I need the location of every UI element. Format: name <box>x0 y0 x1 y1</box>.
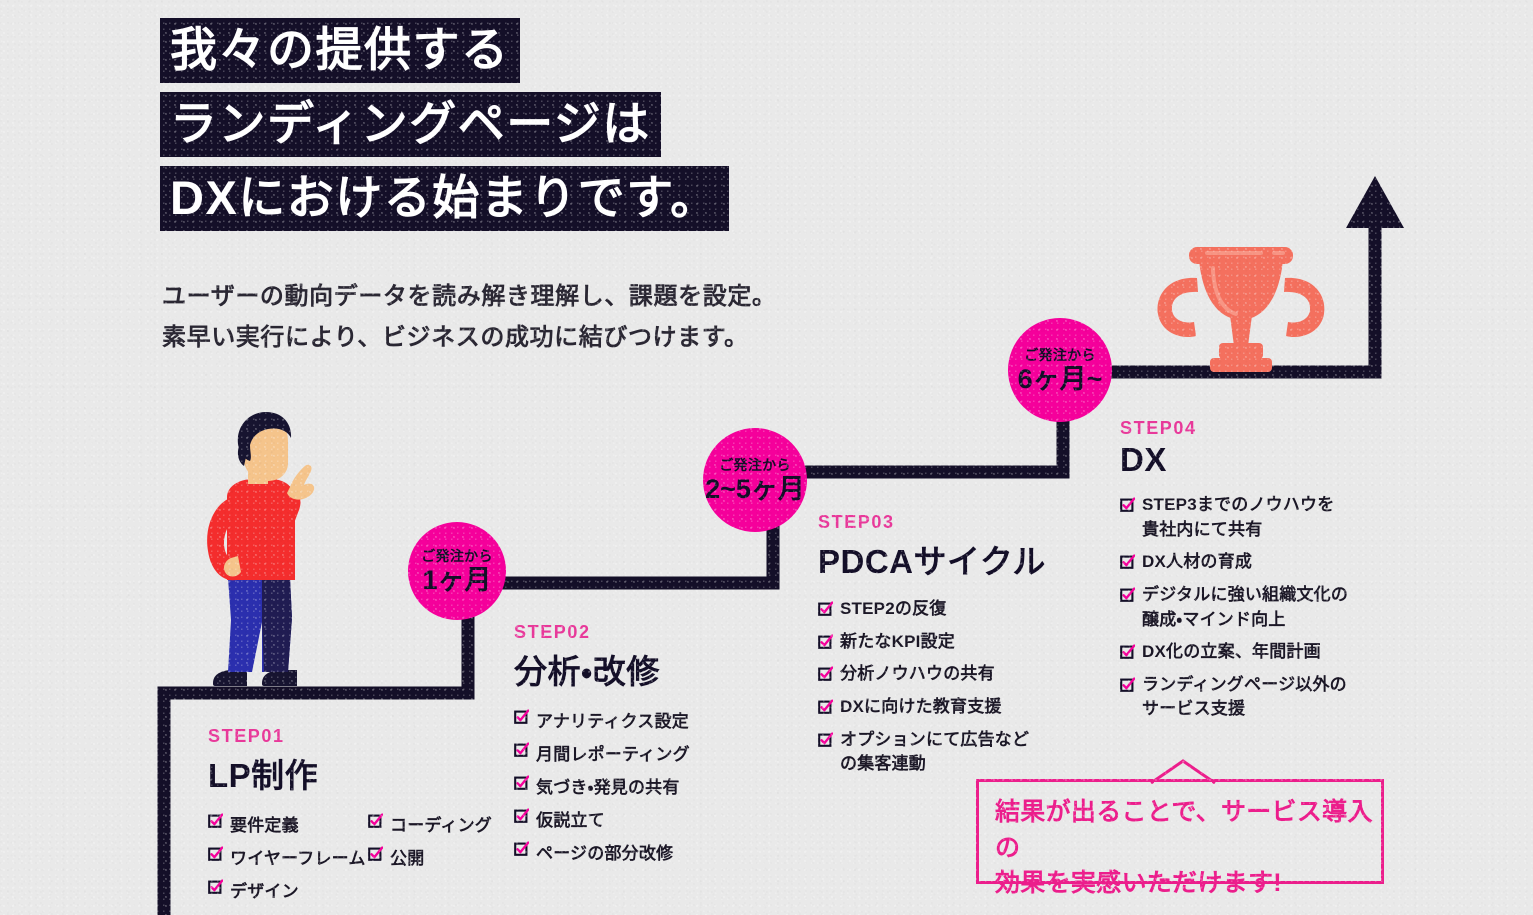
step-3-column-a: STEP2の反復 新たなKPI設定 分析ノウハウの共有 <box>818 597 1029 785</box>
checkbox-checked-icon <box>1120 552 1135 577</box>
step-number-2: STEP02 <box>514 622 690 643</box>
step-4-column-a: STEP3までのノウハウを 貴社内にて共有 DX人材の育成 デジタルに強い組 <box>1120 493 1348 730</box>
checkbox-checked-icon <box>368 813 383 833</box>
checkbox-checked-icon <box>1120 585 1135 610</box>
headline-text-2: ランディングページは <box>160 92 661 157</box>
checkbox-checked-icon <box>368 846 383 866</box>
list-item-label: アナリティクス設定 <box>536 712 689 731</box>
step-title-1: LP制作 <box>208 749 492 797</box>
list-item-label: 気づき・発見の共有 <box>536 778 680 797</box>
step-block-4: STEP04 DX STEP3までのノウハウを 貴社内にて共有 <box>1120 418 1348 730</box>
list-item-label-line2: 醸成・マインド向上 <box>1142 608 1348 633</box>
list-item: DX人材の育成 <box>1120 550 1348 575</box>
step-block-1: STEP01 LP制作 要件定義 ワイヤーフレーム <box>208 726 492 910</box>
headline-text-3: DXにおける始まりです。 <box>160 166 729 231</box>
milestone-prefix-3: ご発注から <box>1024 348 1096 362</box>
step-1-column-a: 要件定義 ワイヤーフレーム デザイン <box>208 811 368 910</box>
list-item-label: コーディング <box>390 816 492 835</box>
milestone-prefix-1: ご発注から <box>421 549 493 563</box>
checkbox-checked-icon <box>514 775 529 795</box>
checkbox-checked-icon <box>818 664 833 689</box>
callout-text: 結果が出ることで、サービス導入の 効果を実感いただけます! <box>995 795 1390 902</box>
list-item-label: DXに向けた教育支援 <box>840 697 1002 716</box>
list-item-label: 分析ノウハウの共有 <box>840 664 995 683</box>
list-item-label: 月間レポーティング <box>536 745 690 764</box>
checkbox-checked-icon <box>1120 675 1135 700</box>
list-item: 新たなKPI設定 <box>818 630 1029 655</box>
list-item-label: ランディングページ以外の <box>1142 675 1347 694</box>
headline-line-1: 我々の提供する <box>160 18 520 92</box>
list-item-label: デザイン <box>230 882 299 901</box>
list-item: 公開 <box>368 844 492 869</box>
checkbox-checked-icon <box>818 730 833 755</box>
list-item-label-line2: サービス支援 <box>1142 697 1347 722</box>
checkbox-checked-icon <box>514 709 529 729</box>
list-item-label-line2: の集客連動 <box>840 752 1029 777</box>
step-title-3: PDCAサイクル <box>818 535 1046 583</box>
step-block-2: STEP02 分析・改修 アナリティクス設定 月間レポーティング <box>514 622 690 872</box>
step-number-4: STEP04 <box>1120 418 1348 439</box>
callout-line-1: 結果が出ることで、サービス導入の <box>995 795 1390 866</box>
milestone-value-3: 6ヶ月~ <box>1018 366 1103 393</box>
list-item: ページの部分改修 <box>514 839 690 864</box>
list-item: ランディングページ以外の サービス支援 <box>1120 673 1348 722</box>
step-number-1: STEP01 <box>208 726 492 747</box>
checkbox-checked-icon <box>1120 642 1135 667</box>
lede-line-1: ユーザーの動向データを読み解き理解し、課題を設定。 <box>162 276 777 317</box>
lede-line-2: 素早い実行により、ビジネスの成功に結びつけます。 <box>162 317 777 358</box>
lede-paragraph: ユーザーの動向データを読み解き理解し、課題を設定。 素早い実行により、ビジネスの… <box>162 276 777 359</box>
checkbox-checked-icon <box>514 808 529 828</box>
list-item-label: DX人材の育成 <box>1142 552 1252 571</box>
checkbox-checked-icon <box>818 599 833 624</box>
list-item: オプションにて広告など の集客連動 <box>818 728 1029 777</box>
headline-line-2: ランディングページは <box>160 92 661 166</box>
list-item-label: STEP2の反復 <box>840 599 946 618</box>
list-item-label: デジタルに強い組織文化の <box>1142 585 1348 604</box>
list-item-label: DX化の立案、年間計画 <box>1142 642 1321 661</box>
person-pointing-up-icon <box>207 412 314 686</box>
headline-line-3: DXにおける始まりです。 <box>160 166 729 240</box>
list-item: 要件定義 <box>208 811 368 836</box>
checkbox-checked-icon <box>208 879 223 899</box>
step-title-4: DX <box>1120 441 1348 479</box>
list-item-label: 仮説立て <box>536 811 605 830</box>
infographic-canvas: 我々の提供する ランディングページは DXにおける始まりです。 ユーザーの動向デ… <box>0 0 1533 915</box>
checkbox-checked-icon <box>818 697 833 722</box>
list-item: ワイヤーフレーム <box>208 844 368 869</box>
list-item-label: ワイヤーフレーム <box>230 849 366 868</box>
step-2-column-a: アナリティクス設定 月間レポーティング 気づき・発見の共有 <box>514 707 690 872</box>
list-item-label-line2: 貴社内にて共有 <box>1142 518 1334 543</box>
list-item: STEP2の反復 <box>818 597 1029 622</box>
list-item-label: ページの部分改修 <box>536 844 673 863</box>
step-number-3: STEP03 <box>818 512 1046 533</box>
milestone-value-2: 2~5ヶ月 <box>705 476 805 503</box>
step-1-column-b: コーディング 公開 <box>368 811 492 910</box>
list-item: 月間レポーティング <box>514 740 690 765</box>
list-item-label: 要件定義 <box>230 816 299 835</box>
step-2-checklist: アナリティクス設定 月間レポーティング 気づき・発見の共有 <box>514 707 690 872</box>
list-item: アナリティクス設定 <box>514 707 690 732</box>
list-item-label: 公開 <box>390 849 424 868</box>
list-item: DXに向けた教育支援 <box>818 695 1029 720</box>
list-item-label: STEP3までのノウハウを <box>1142 495 1334 514</box>
callout-line-2: 効果を実感いただけます! <box>995 866 1390 902</box>
list-item: 分析ノウハウの共有 <box>818 662 1029 687</box>
checkbox-checked-icon <box>1120 495 1135 520</box>
milestone-badge-3: ご発注から 6ヶ月~ <box>1008 318 1112 422</box>
checkbox-checked-icon <box>208 846 223 866</box>
step-4-checklist: STEP3までのノウハウを 貴社内にて共有 DX人材の育成 デジタルに強い組 <box>1120 493 1348 730</box>
list-item: 気づき・発見の共有 <box>514 773 690 798</box>
checkbox-checked-icon <box>818 632 833 657</box>
list-item: デザイン <box>208 877 368 902</box>
list-item-label: オプションにて広告など <box>840 730 1029 749</box>
checkbox-checked-icon <box>514 841 529 861</box>
arrow-up-icon <box>1346 176 1404 228</box>
list-item-label: 新たなKPI設定 <box>840 632 955 651</box>
checkbox-checked-icon <box>514 742 529 762</box>
milestone-badge-1: ご発注から 1ヶ月 <box>408 522 506 620</box>
list-item: STEP3までのノウハウを 貴社内にて共有 <box>1120 493 1348 542</box>
list-item: デジタルに強い組織文化の 醸成・マインド向上 <box>1120 583 1348 632</box>
step-3-checklist: STEP2の反復 新たなKPI設定 分析ノウハウの共有 <box>818 597 1046 785</box>
milestone-badge-2: ご発注から 2~5ヶ月 <box>703 428 807 532</box>
milestone-value-1: 1ヶ月 <box>422 567 491 594</box>
step-title-2: 分析・改修 <box>514 645 690 693</box>
trophy-icon <box>1158 247 1325 372</box>
list-item: 仮説立て <box>514 806 690 831</box>
milestone-prefix-2: ご発注から <box>719 458 791 472</box>
list-item: DX化の立案、年間計画 <box>1120 640 1348 665</box>
step-block-3: STEP03 PDCAサイクル STEP2の反復 新たなKPI設定 <box>818 512 1046 785</box>
page-title: 我々の提供する ランディングページは DXにおける始まりです。 <box>160 18 729 240</box>
headline-text-1: 我々の提供する <box>160 18 520 83</box>
checkbox-checked-icon <box>208 813 223 833</box>
list-item: コーディング <box>368 811 492 836</box>
step-1-checklist: 要件定義 ワイヤーフレーム デザイン <box>208 811 492 910</box>
